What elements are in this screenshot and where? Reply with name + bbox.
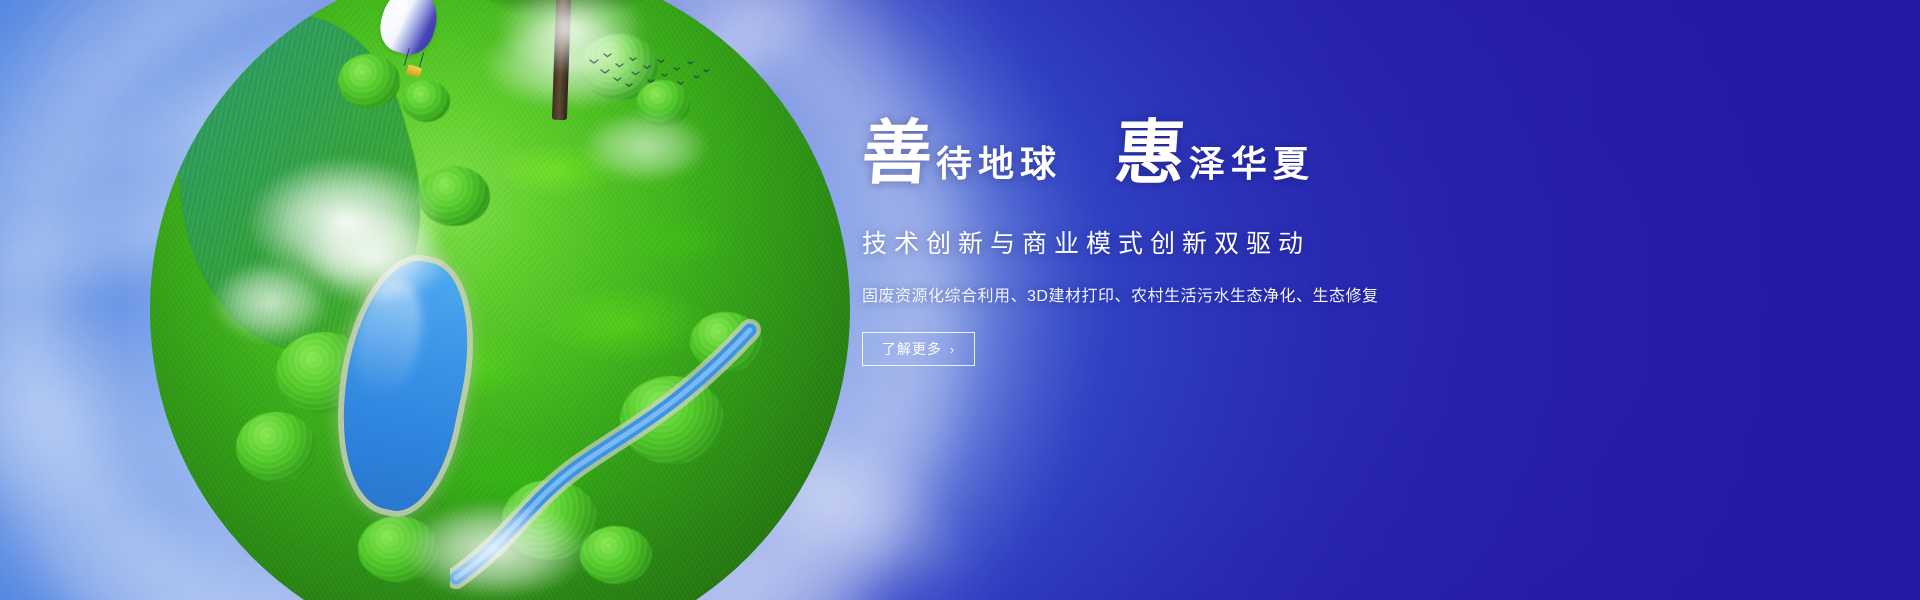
headline-group-1: 善待地球 — [862, 120, 1062, 190]
learn-more-button[interactable]: 了解更多 › — [862, 332, 975, 366]
cloud-icon — [210, 260, 330, 344]
cloud-icon — [400, 500, 590, 600]
green-planet-illustration — [150, 0, 850, 600]
headline-chars-small-1: 待地球 — [936, 146, 1062, 182]
learn-more-label: 了解更多 — [882, 342, 942, 356]
hot-air-balloon-icon — [382, 0, 436, 84]
banner-subtitle: 技术创新与商业模式创新双驱动 — [862, 224, 1502, 260]
bush-icon — [402, 80, 450, 122]
headline-char-large-1: 善 — [860, 120, 939, 190]
headline-chars-small-2: 泽华夏 — [1189, 146, 1315, 182]
birds-flock-icon — [586, 48, 716, 94]
bush-icon — [236, 412, 316, 482]
headline-group-2: 惠泽华夏 — [1115, 120, 1315, 190]
headline-char-large-2: 惠 — [1112, 120, 1191, 190]
page-title: 善待地球 惠泽华夏 — [862, 120, 1502, 206]
chevron-right-icon: › — [950, 343, 955, 356]
banner-description: 固废资源化综合利用、3D建材打印、农村生活污水生态净化、生态修复 — [862, 282, 1502, 306]
banner-copy: 善待地球 惠泽华夏 技术创新与商业模式创新双驱动 固废资源化综合利用、3D建材打… — [862, 120, 1502, 366]
hero-banner: 善待地球 惠泽华夏 技术创新与商业模式创新双驱动 固废资源化综合利用、3D建材打… — [0, 0, 1920, 600]
